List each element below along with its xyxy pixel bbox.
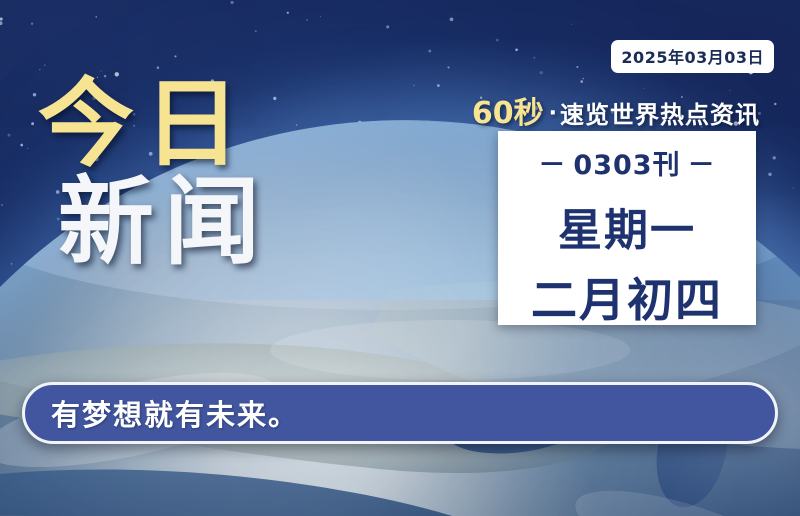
lunar-date-label: 二月初四 — [531, 264, 723, 330]
issue-row: －0303刊－ — [531, 143, 722, 182]
weekday-label: 星期一 — [558, 194, 696, 258]
page-title: 今日 新闻 — [38, 72, 270, 274]
tagline: 60秒·速览世界热点资讯 — [472, 88, 760, 132]
tagline-text: 速览世界热点资讯 — [560, 101, 760, 129]
issue-dash-left: － — [538, 150, 566, 181]
tagline-separator: · — [549, 101, 557, 126]
news-poster: 2025年03月03日 60秒·速览世界热点资讯 今日 新闻 －0303刊－ 星… — [0, 0, 800, 516]
issue-dash-right: － — [688, 150, 716, 181]
quote-text: 有梦想就有未来。 — [51, 392, 299, 434]
title-line-today: 今日 — [38, 72, 270, 176]
tagline-seconds: 60秒 — [472, 96, 544, 131]
quote-banner: 有梦想就有未来。 — [22, 382, 778, 444]
title-line-news: 新闻 — [58, 170, 270, 274]
issue-info-panel: －0303刊－ 星期一 二月初四 — [498, 131, 756, 325]
issue-number: 0303刊 — [573, 150, 680, 181]
date-badge: 2025年03月03日 — [611, 40, 774, 73]
